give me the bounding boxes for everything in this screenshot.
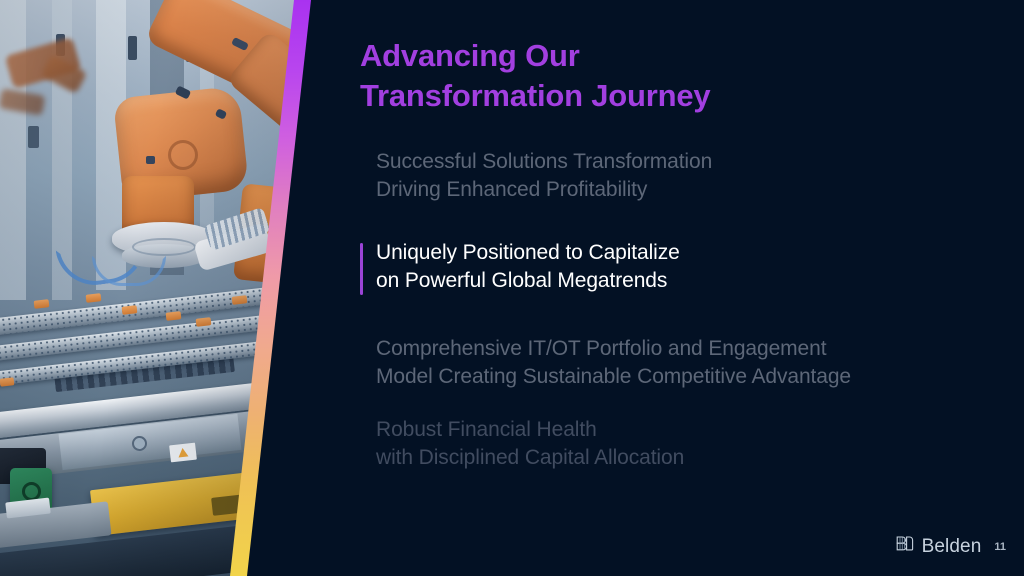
agenda-item-line: on Powerful Global Megatrends bbox=[376, 267, 978, 295]
agenda-item-line: Robust Financial Health bbox=[376, 416, 978, 444]
agenda-item-line: with Disciplined Capital Allocation bbox=[376, 444, 978, 472]
agenda-item-financial-health[interactable]: Robust Financial Health with Disciplined… bbox=[358, 416, 978, 471]
title-line-1: Advancing Our bbox=[360, 36, 880, 76]
belden-layered-b-logo-icon bbox=[894, 534, 915, 560]
presentation-slide: Advancing Our Transformation Journey Suc… bbox=[0, 0, 1024, 576]
title-line-2: Transformation Journey bbox=[360, 76, 880, 116]
agenda-item-it-ot-portfolio[interactable]: Comprehensive IT/OT Portfolio and Engage… bbox=[358, 335, 978, 390]
page-number: 11 bbox=[994, 541, 1006, 553]
slide-footer: Belden 11 bbox=[894, 534, 1006, 560]
page-title: Advancing Our Transformation Journey bbox=[360, 36, 880, 117]
agenda-item-line: Driving Enhanced Profitability bbox=[376, 176, 978, 204]
belden-logo: Belden bbox=[894, 534, 982, 560]
active-item-accent-bar bbox=[360, 243, 363, 294]
agenda-item-line: Comprehensive IT/OT Portfolio and Engage… bbox=[376, 335, 978, 363]
agenda-item-line: Uniquely Positioned to Capitalize bbox=[376, 239, 978, 267]
agenda-list: Successful Solutions Transformation Driv… bbox=[358, 148, 978, 472]
slide-content: Advancing Our Transformation Journey Suc… bbox=[358, 0, 1024, 576]
brand-name: Belden bbox=[922, 536, 982, 558]
agenda-item-solutions-transformation[interactable]: Successful Solutions Transformation Driv… bbox=[358, 148, 978, 203]
agenda-item-line: Successful Solutions Transformation bbox=[376, 148, 978, 176]
agenda-item-global-megatrends[interactable]: Uniquely Positioned to Capitalize on Pow… bbox=[358, 239, 978, 294]
agenda-item-line: Model Creating Sustainable Competitive A… bbox=[376, 363, 978, 391]
